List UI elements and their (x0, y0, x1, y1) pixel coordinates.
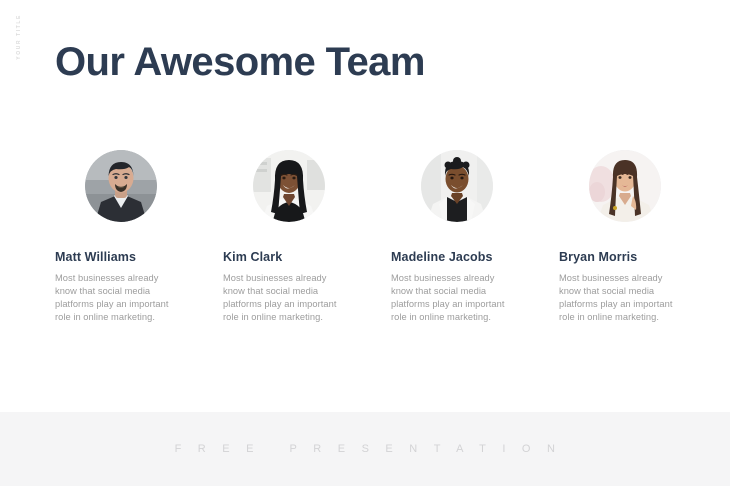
member-name: Bryan Morris (559, 250, 727, 265)
team-member-card: Kim Clark Most businesses already know t… (223, 150, 391, 324)
team-grid: Matt Williams Most businesses already kn… (55, 150, 695, 324)
team-member-card: Bryan Morris Most businesses already kno… (559, 150, 727, 324)
member-name: Madeline Jacobs (391, 250, 559, 265)
member-description: Most businesses already know that social… (55, 272, 175, 324)
member-description: Most businesses already know that social… (559, 272, 679, 324)
member-name: Kim Clark (223, 250, 391, 265)
footer-text: FREE PRESENTATION (159, 443, 572, 455)
avatar (421, 150, 493, 222)
avatar-photo-bryan-morris (589, 150, 661, 222)
avatar (589, 150, 661, 222)
avatar (253, 150, 325, 222)
slide-canvas: YOUR TITLE Our Awesome Team (0, 0, 730, 486)
side-label-text: YOUR TITLE (17, 14, 22, 60)
footer-band: FREE PRESENTATION (0, 412, 730, 486)
avatar-photo-madeline-jacobs (421, 150, 493, 222)
member-description: Most businesses already know that social… (391, 272, 511, 324)
team-member-card: Matt Williams Most businesses already kn… (55, 150, 223, 324)
member-description: Most businesses already know that social… (223, 272, 343, 324)
avatar-photo-kim-clark (253, 150, 325, 222)
avatar (85, 150, 157, 222)
avatar-photo-matt-williams (85, 150, 157, 222)
vertical-side-label: YOUR TITLE (12, 14, 26, 104)
member-name: Matt Williams (55, 250, 223, 265)
page-title: Our Awesome Team (55, 38, 425, 86)
team-member-card: Madeline Jacobs Most businesses already … (391, 150, 559, 324)
